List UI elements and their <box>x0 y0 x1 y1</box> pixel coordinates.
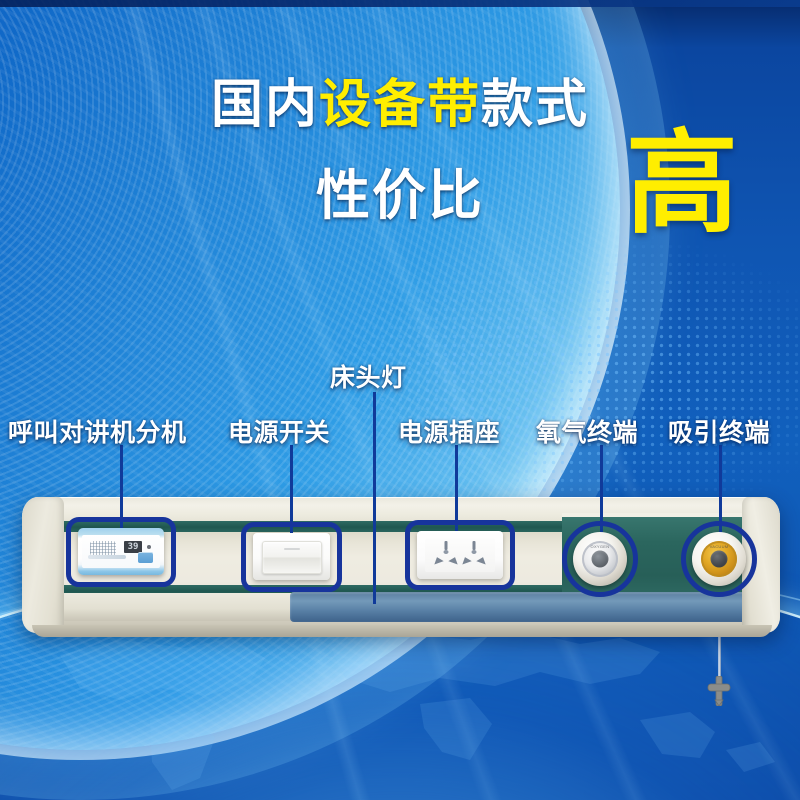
pull-cord-handle-icon[interactable] <box>706 676 732 706</box>
headline-part-2: 设备带 <box>319 76 481 134</box>
headline-part-3: 款式 <box>481 76 589 134</box>
leader-line-bedlamp <box>373 392 376 604</box>
callout-label-socket: 电源插座 <box>398 413 500 449</box>
panel-sliding-rail <box>290 592 760 622</box>
callout-label-switch: 电源开关 <box>228 413 330 449</box>
callout-label-oxygen: 氧气终端 <box>536 413 638 449</box>
highlight-box-socket <box>405 520 515 590</box>
callout-label-intercom: 呼叫对讲机分机 <box>8 413 187 449</box>
highlight-circle-oxygen <box>562 521 638 597</box>
headline-part-1: 国内 <box>211 76 319 134</box>
callout-label-bedlamp: 床头灯 <box>330 358 407 394</box>
top-edge-bar <box>0 0 800 7</box>
panel-end-cap-left <box>22 497 64 633</box>
panel-bottom-lip <box>32 625 772 637</box>
headline-emphasis-gao: 高 <box>626 128 738 240</box>
callout-label-suction: 吸引终端 <box>668 413 770 449</box>
highlight-box-intercom <box>66 517 176 587</box>
poster-root: 国内设备带款式 性价比 高 呼叫对讲机分机 电源开关 床头灯 电源插座 氧气终端… <box>0 0 800 800</box>
highlight-circle-suction <box>681 521 757 597</box>
highlight-box-switch <box>241 522 342 592</box>
